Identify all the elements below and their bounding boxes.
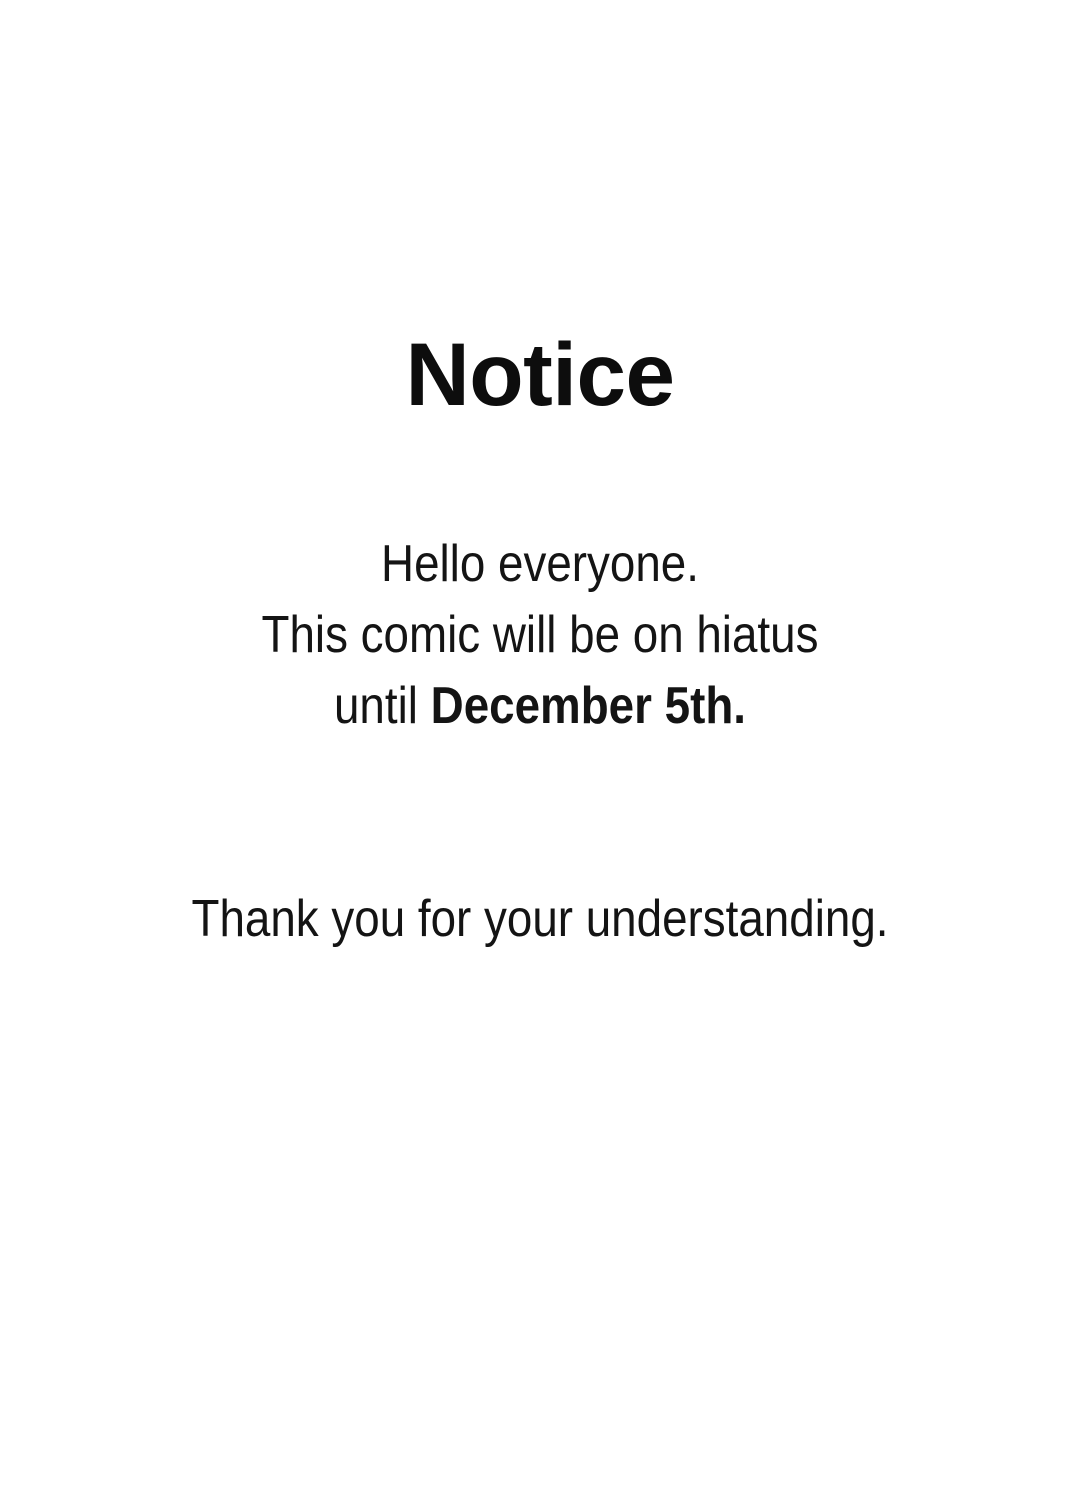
notice-closing-paragraph: Thank you for your understanding. <box>65 884 1015 955</box>
notice-hiatus-end-date: December 5th. <box>431 677 746 735</box>
notice-hiatus-prefix: until <box>334 677 431 735</box>
page-title: Notice <box>0 326 1080 422</box>
notice-intro-paragraph: Hello everyone. This comic will be on hi… <box>65 529 1015 742</box>
notice-intro-line-2: This comic will be on hiatus <box>65 600 1015 671</box>
notice-intro-line-1: Hello everyone. <box>65 529 1015 600</box>
notice-intro-line-3: until December 5th. <box>65 671 1015 742</box>
notice-page: Notice Hello everyone. This comic will b… <box>0 0 1080 1500</box>
notice-closing-line-1: Thank you for your understanding. <box>65 884 1015 955</box>
empty-lower-area <box>0 980 1080 1500</box>
